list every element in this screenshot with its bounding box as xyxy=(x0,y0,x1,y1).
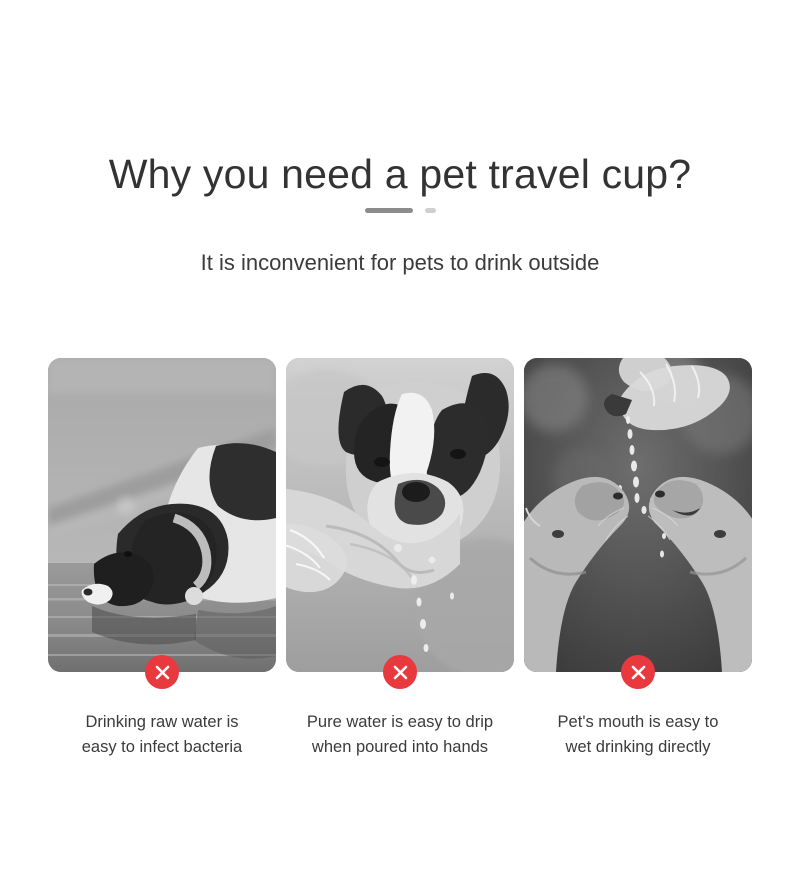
caption-line-2: easy to infect bacteria xyxy=(48,735,276,760)
card-caption: Pure water is easy to drip when poured i… xyxy=(286,710,514,760)
page-subtitle: It is inconvenient for pets to drink out… xyxy=(0,248,800,278)
caption-line-2: wet drinking directly xyxy=(524,735,752,760)
cross-badge xyxy=(621,655,655,689)
photo-dogs-drinking-from-bottle xyxy=(524,358,752,672)
cross-icon xyxy=(392,664,409,681)
image-card xyxy=(524,358,752,672)
card-caption: Pet's mouth is easy to wet drinking dire… xyxy=(524,710,752,760)
cross-icon xyxy=(630,664,647,681)
cross-badge xyxy=(145,655,179,689)
caption-line-1: Pure water is easy to drip xyxy=(286,710,514,735)
caption-row: Drinking raw water is easy to infect bac… xyxy=(48,710,752,760)
caption-line-2: when poured into hands xyxy=(286,735,514,760)
page-title: Why you need a pet travel cup? xyxy=(0,149,800,199)
divider-bar-long xyxy=(365,208,413,213)
cross-badge xyxy=(383,655,417,689)
photo-dog-drinking-raw-water xyxy=(48,358,276,672)
divider-bar-short xyxy=(425,208,436,213)
cross-icon xyxy=(154,664,171,681)
photo-water-poured-into-hands xyxy=(286,358,514,672)
promo-page: Why you need a pet travel cup? It is inc… xyxy=(0,0,800,884)
image-card xyxy=(48,358,276,672)
image-card-row xyxy=(48,358,752,672)
image-card xyxy=(286,358,514,672)
caption-line-1: Drinking raw water is xyxy=(48,710,276,735)
title-divider xyxy=(0,205,800,215)
card-caption: Drinking raw water is easy to infect bac… xyxy=(48,710,276,760)
caption-line-1: Pet's mouth is easy to xyxy=(524,710,752,735)
